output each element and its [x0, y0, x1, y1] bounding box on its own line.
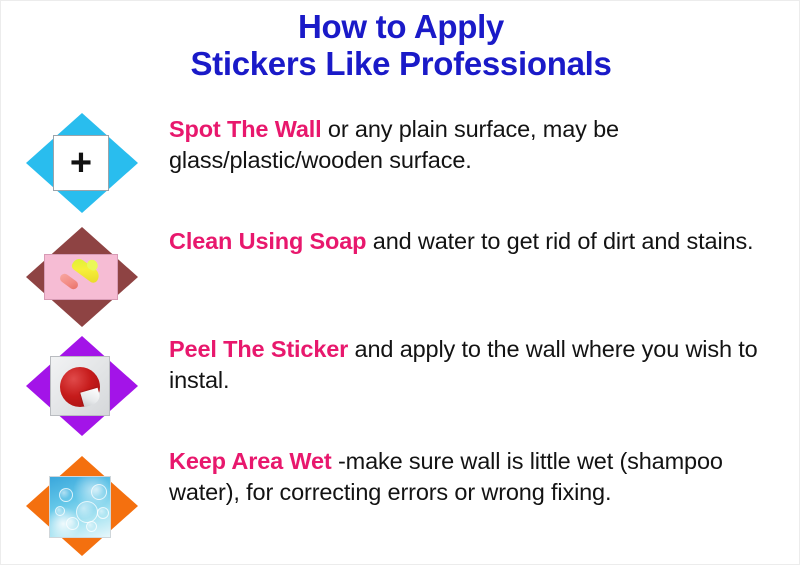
step-lead: Peel The Sticker [169, 336, 348, 362]
step-text-cell: Spot The Wall or any plain surface, may … [169, 104, 800, 175]
step-text-cell: Clean Using Soap and water to get rid of… [169, 216, 800, 257]
title-line-2: Stickers Like Professionals [1, 46, 800, 83]
hand-shape [58, 272, 79, 291]
step-lead: Keep Area Wet [169, 448, 332, 474]
steps-list: + Spot The Wall or any plain surface, ma… [1, 104, 800, 558]
step-item: Clean Using Soap and water to get rid of… [1, 216, 800, 324]
page-title: How to Apply Stickers Like Professionals [1, 9, 800, 83]
step-text: Spot The Wall or any plain surface, may … [169, 114, 761, 175]
sticker-photo-frame [50, 356, 110, 416]
bubble-shape [55, 506, 65, 516]
step-icon-cell [1, 436, 169, 558]
step-text-cell: Keep Area Wet -make sure wall is little … [169, 436, 800, 507]
step-lead: Spot The Wall [169, 116, 322, 142]
plus-frame: + [53, 135, 109, 191]
bubble-shape [97, 507, 109, 519]
step-text: Keep Area Wet -make sure wall is little … [169, 446, 761, 507]
step-text: Clean Using Soap and water to get rid of… [169, 226, 761, 257]
step-icon-cell: + [1, 104, 169, 216]
plus-icon: + [70, 144, 92, 182]
step-item: + Spot The Wall or any plain surface, ma… [1, 104, 800, 216]
sponge-photo-frame [44, 254, 118, 300]
step-text: Peel The Sticker and apply to the wall w… [169, 334, 761, 395]
step-icon-cell [1, 216, 169, 324]
title-line-1: How to Apply [1, 9, 800, 46]
step-text-cell: Peel The Sticker and apply to the wall w… [169, 324, 800, 395]
step-icon-cell [1, 324, 169, 436]
step-item: Keep Area Wet -make sure wall is little … [1, 436, 800, 558]
bubbles-photo-frame [49, 476, 111, 538]
step-rest: and water to get rid of dirt and stains. [366, 228, 753, 254]
sponge-cleaning-icon [26, 227, 138, 327]
bubble-shape [86, 521, 97, 532]
bubble-shape [59, 488, 73, 502]
water-bubbles-icon [26, 456, 138, 556]
bubble-shape [76, 501, 98, 523]
peel-corner-shape [80, 388, 101, 407]
plus-marker-icon: + [26, 113, 138, 213]
bubble-shape [91, 484, 107, 500]
poster-root: How to Apply Stickers Like Professionals… [0, 0, 800, 565]
peeling-sticker-icon [26, 336, 138, 436]
bubble-shape [66, 517, 79, 530]
step-item: Peel The Sticker and apply to the wall w… [1, 324, 800, 436]
step-lead: Clean Using Soap [169, 228, 366, 254]
